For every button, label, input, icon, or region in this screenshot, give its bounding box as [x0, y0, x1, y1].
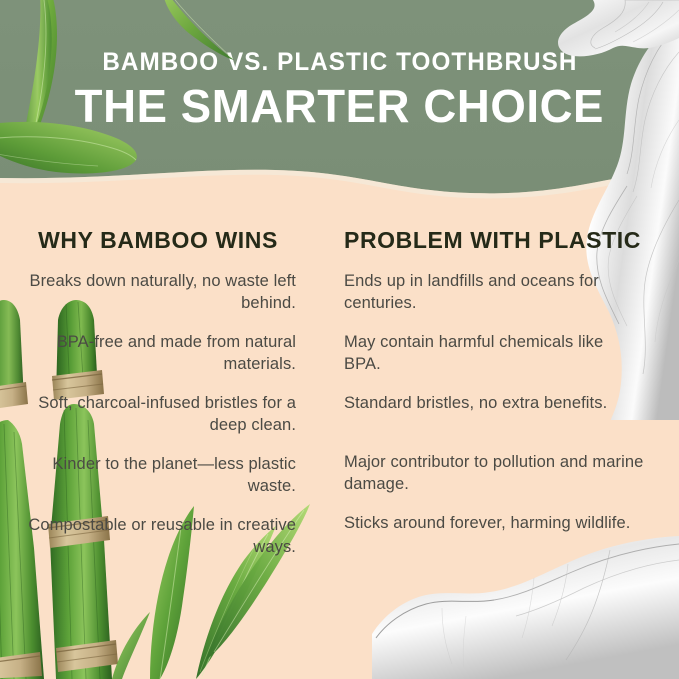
- column-plastic-list: Ends up in landfills and oceans for cent…: [344, 271, 644, 535]
- list-item: Sticks around forever, harming wildlife.: [344, 513, 644, 535]
- header-band: [0, 0, 679, 210]
- list-item: BPA-free and made from natural materials…: [20, 332, 296, 376]
- list-item: Major contributor to pollution and marin…: [344, 452, 644, 496]
- column-plastic-heading: PROBLEM WITH PLASTIC: [344, 228, 644, 253]
- list-item: Breaks down naturally, no waste left beh…: [20, 271, 296, 315]
- list-item: Kinder to the planet—less plastic waste.: [20, 454, 296, 498]
- infographic-canvas: BAMBOO VS. PLASTIC TOOTHBRUSH THE SMARTE…: [0, 0, 679, 679]
- list-item: Compostable or reusable in creative ways…: [20, 515, 296, 559]
- plastic-bag-bottom-right-icon: [370, 530, 679, 679]
- list-item: Standard bristles, no extra benefits.: [344, 393, 644, 415]
- column-bamboo-list: Breaks down naturally, no waste left beh…: [20, 271, 296, 558]
- column-bamboo-heading: WHY BAMBOO WINS: [20, 228, 296, 253]
- list-item: May contain harmful chemicals like BPA.: [344, 332, 644, 376]
- header-wave-shape: [0, 0, 679, 210]
- list-item: Ends up in landfills and oceans for cent…: [344, 271, 644, 315]
- column-bamboo: WHY BAMBOO WINS Breaks down naturally, n…: [20, 228, 296, 576]
- list-item: Soft, charcoal-infused bristles for a de…: [20, 393, 296, 437]
- column-plastic: PROBLEM WITH PLASTIC Ends up in landfill…: [344, 228, 644, 552]
